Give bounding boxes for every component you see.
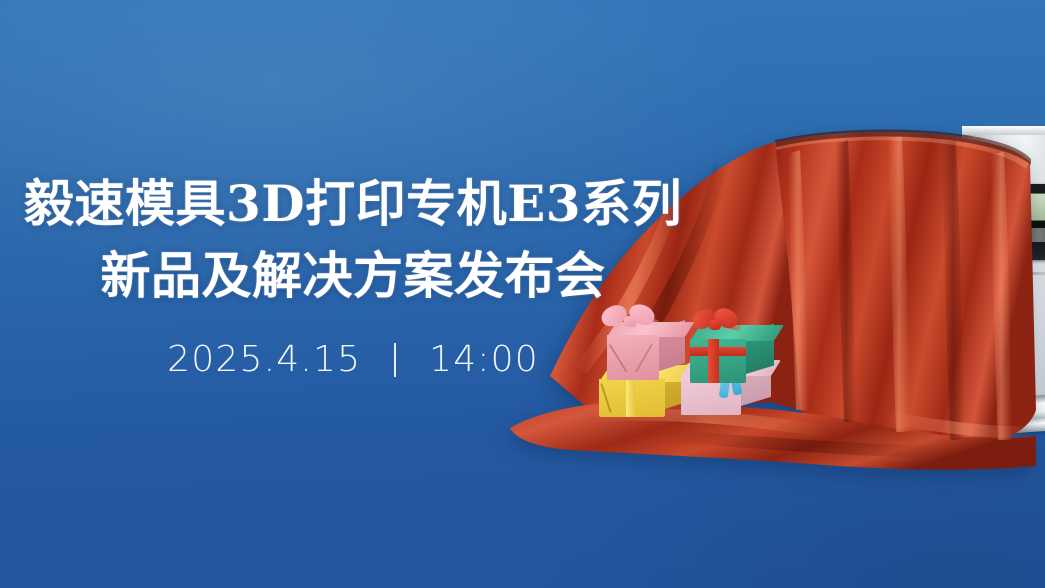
green-gift-box-ribbon-vertical: [708, 339, 719, 383]
banner-title-line-2: 新品及解决方案发布会: [0, 240, 706, 312]
banner-datetime: 2025.4.15 14:00: [0, 338, 706, 380]
event-banner: 毅速模具3D打印专机E3系列 新品及解决方案发布会 2025.4.15 14:0…: [0, 0, 1045, 588]
banner-title-line-1: 毅速模具3D打印专机E3系列: [0, 168, 706, 240]
pink-bow-knot: [624, 316, 637, 327]
banner-title-block: 毅速模具3D打印专机E3系列 新品及解决方案发布会: [0, 168, 706, 312]
event-date: 2025.4.15: [167, 339, 361, 380]
yellow-gift-box-ribbon: [626, 379, 635, 417]
event-time: 14:00: [429, 339, 539, 380]
red-bow-knot: [709, 320, 721, 330]
datetime-separator: [394, 343, 396, 377]
